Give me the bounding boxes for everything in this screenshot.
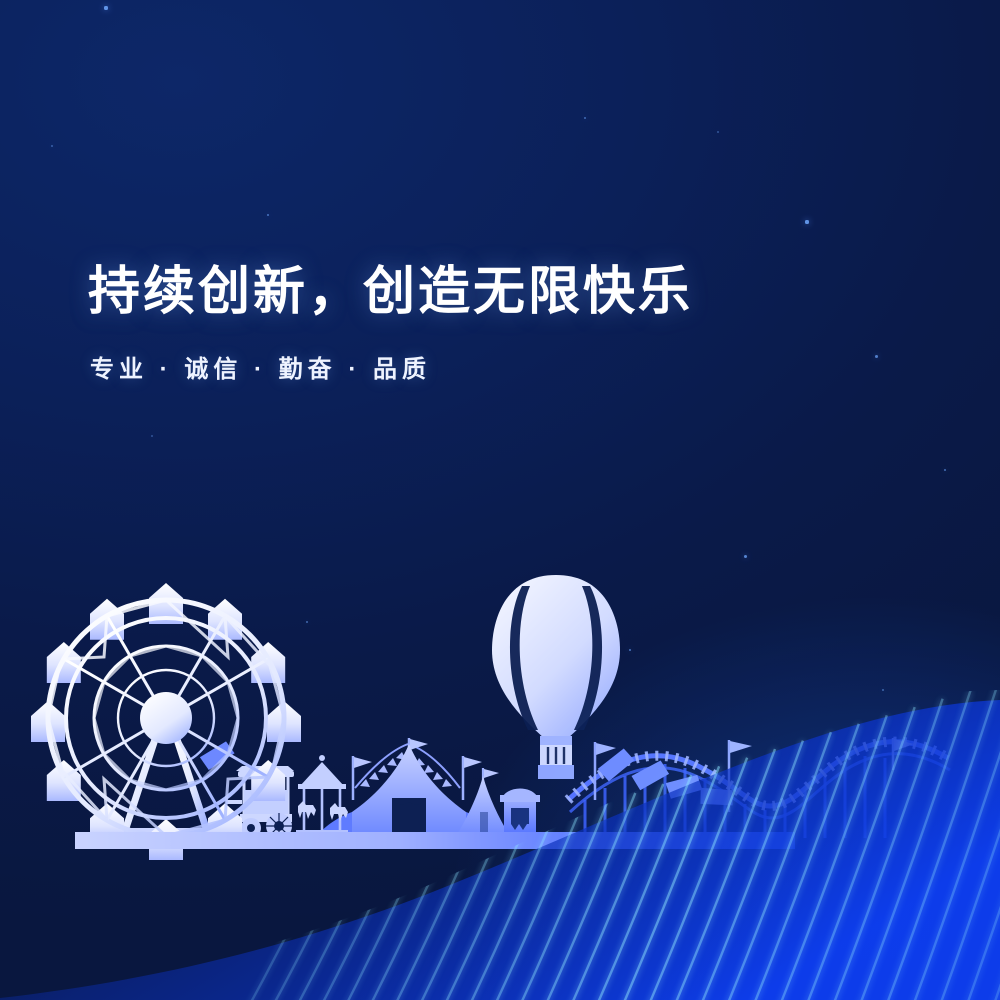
glowing-wave-mesh: [0, 0, 1000, 1000]
hero-text-block: 持续创新，创造无限快乐 专业 · 诚信 · 勤奋 · 品质: [88, 262, 693, 385]
poster-canvas: 持续创新，创造无限快乐 专业 · 诚信 · 勤奋 · 品质: [0, 0, 1000, 1000]
page-subline: 专业 · 诚信 · 勤奋 · 品质: [90, 355, 693, 385]
page-headline: 持续创新，创造无限快乐: [88, 262, 693, 322]
